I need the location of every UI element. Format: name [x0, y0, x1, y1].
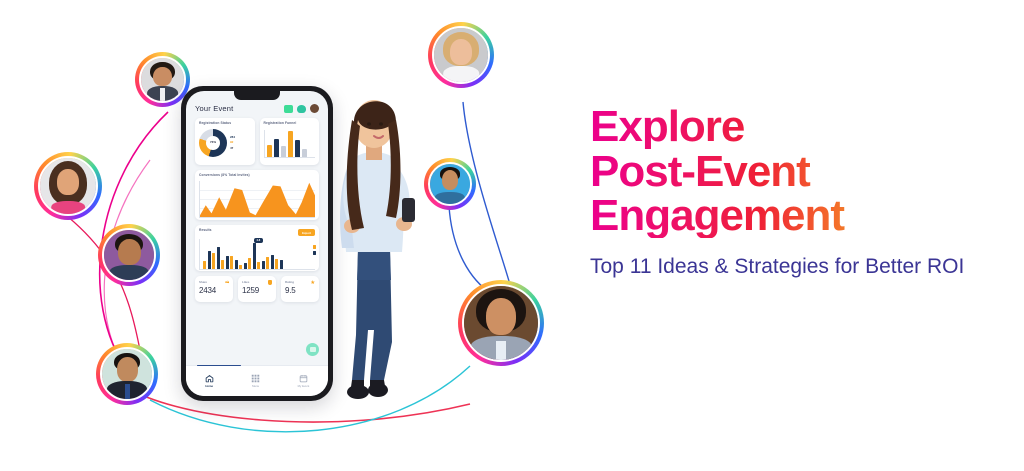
headline-line-3: Engagement — [590, 195, 990, 238]
tab-my-event[interactable]: My Event — [298, 374, 310, 389]
avatar-image — [38, 156, 98, 216]
avatar-left[interactable] — [34, 152, 102, 220]
top-cards-row: Registration Status 73% 284 92 47 — [186, 118, 328, 165]
bar — [230, 256, 233, 270]
marketing-banner: Your Event Registration Status 73% — [0, 0, 1024, 471]
avatar-left-lower[interactable] — [98, 224, 160, 286]
bar — [244, 263, 247, 269]
conversions-area-chart — [199, 181, 315, 218]
donut-center-label: 73% — [199, 129, 227, 157]
active-tab-indicator — [197, 365, 241, 366]
bottom-tab-bar: Home Menu My Event — [186, 365, 328, 396]
bar — [239, 265, 242, 269]
bar — [217, 247, 220, 270]
stat-card-share[interactable]: Share 2434 — [195, 276, 233, 302]
stat-label: Rating — [285, 280, 294, 284]
headline-line-1: Explore — [590, 106, 990, 149]
legend-item-registered: 284 — [230, 136, 235, 139]
legend-item-inprogress: 92 — [230, 141, 235, 144]
bar — [203, 261, 206, 269]
avatar-image — [102, 228, 156, 282]
phone-screen: Your Event Registration Status 73% — [186, 91, 328, 396]
bell-icon[interactable] — [297, 105, 306, 113]
woman-with-phone-illustration — [318, 80, 430, 420]
avatar-bottom-left[interactable] — [96, 343, 158, 405]
legend-item-declined: 47 — [230, 147, 235, 150]
bar — [253, 243, 256, 269]
card-title: Results — [199, 229, 212, 233]
headline-block: Explore Post-Event Engagement Top 11 Ide… — [590, 106, 990, 282]
bar — [302, 149, 307, 157]
phone-mockup: Your Event Registration Status 73% — [181, 86, 333, 401]
subtitle: Top 11 Ideas & Strategies for Better ROI — [590, 252, 990, 282]
bar — [267, 145, 272, 157]
bar — [235, 260, 238, 269]
bar — [248, 258, 251, 269]
stat-label: Likes — [242, 280, 249, 284]
bar — [221, 260, 224, 269]
avatar-top-right[interactable] — [428, 22, 494, 88]
header-icon-group — [284, 104, 319, 113]
card-title: Registration Status — [199, 122, 251, 126]
avatar-image — [139, 56, 186, 103]
avatar-bottom-right[interactable] — [458, 280, 544, 366]
stat-value: 1259 — [242, 286, 272, 295]
registration-funnel-card[interactable]: Registration Funnel — [260, 118, 320, 165]
registration-funnel-bars — [264, 130, 316, 158]
bar — [257, 262, 260, 269]
bar — [271, 255, 274, 269]
grid-icon — [251, 374, 260, 383]
registration-status-card[interactable]: Registration Status 73% 284 92 47 — [195, 118, 255, 165]
stat-label: Share — [199, 280, 207, 284]
donut-value: 73% — [210, 141, 216, 144]
stat-card-rating[interactable]: Rating 9.5 — [281, 276, 319, 302]
stat-value: 9.5 — [285, 286, 315, 295]
thumbs-up-icon — [268, 280, 273, 285]
bar — [280, 260, 283, 269]
donut-legend: 284 92 47 — [230, 136, 235, 150]
area-path — [200, 181, 315, 217]
bar — [288, 131, 293, 157]
results-header: Results Export — [199, 229, 315, 236]
avatar-image — [462, 284, 540, 362]
stats-row: Share 2434 Likes 1259 Rating — [186, 271, 328, 302]
home-icon — [205, 374, 214, 383]
export-button[interactable]: Export — [298, 229, 315, 236]
avatar-image — [432, 26, 490, 84]
bar — [226, 256, 229, 269]
message-icon[interactable] — [284, 105, 293, 113]
results-bar-chart: 4.8 — [199, 239, 315, 270]
bar — [275, 259, 278, 269]
tab-label: My Event — [298, 384, 310, 388]
donut-chart-wrap: 73% 284 92 47 — [199, 129, 251, 157]
app-title: Your Event — [195, 104, 233, 113]
phone-notch — [234, 91, 280, 100]
headline-line-2: Post-Event — [590, 151, 990, 194]
bar — [208, 251, 211, 269]
calendar-icon — [299, 374, 308, 383]
tab-label: Home — [205, 384, 213, 388]
card-title: Conversions (8% Total Invites) — [199, 174, 315, 178]
star-icon — [311, 280, 316, 285]
share-icon — [225, 280, 230, 285]
bar — [266, 257, 269, 269]
tab-home[interactable]: Home — [205, 374, 214, 389]
bar — [212, 253, 215, 269]
registration-status-donut: 73% — [199, 129, 227, 157]
avatar-image — [428, 162, 472, 206]
stat-value: 2434 — [199, 286, 229, 295]
tab-label: Menu — [252, 384, 259, 388]
card-title: Registration Funnel — [264, 122, 316, 126]
bar — [262, 261, 265, 269]
bar — [281, 146, 286, 157]
stat-card-likes[interactable]: Likes 1259 — [238, 276, 276, 302]
bar — [295, 140, 300, 157]
results-legend — [313, 245, 316, 255]
bar — [274, 139, 279, 157]
results-tooltip: 4.8 — [254, 238, 263, 243]
tab-menu[interactable]: Menu — [251, 374, 260, 389]
avatar-middle-right[interactable] — [424, 158, 476, 210]
avatar-image — [100, 347, 154, 401]
conversions-card[interactable]: Conversions (8% Total Invites) — [195, 170, 319, 220]
results-card[interactable]: Results Export 4.8 — [195, 225, 319, 271]
